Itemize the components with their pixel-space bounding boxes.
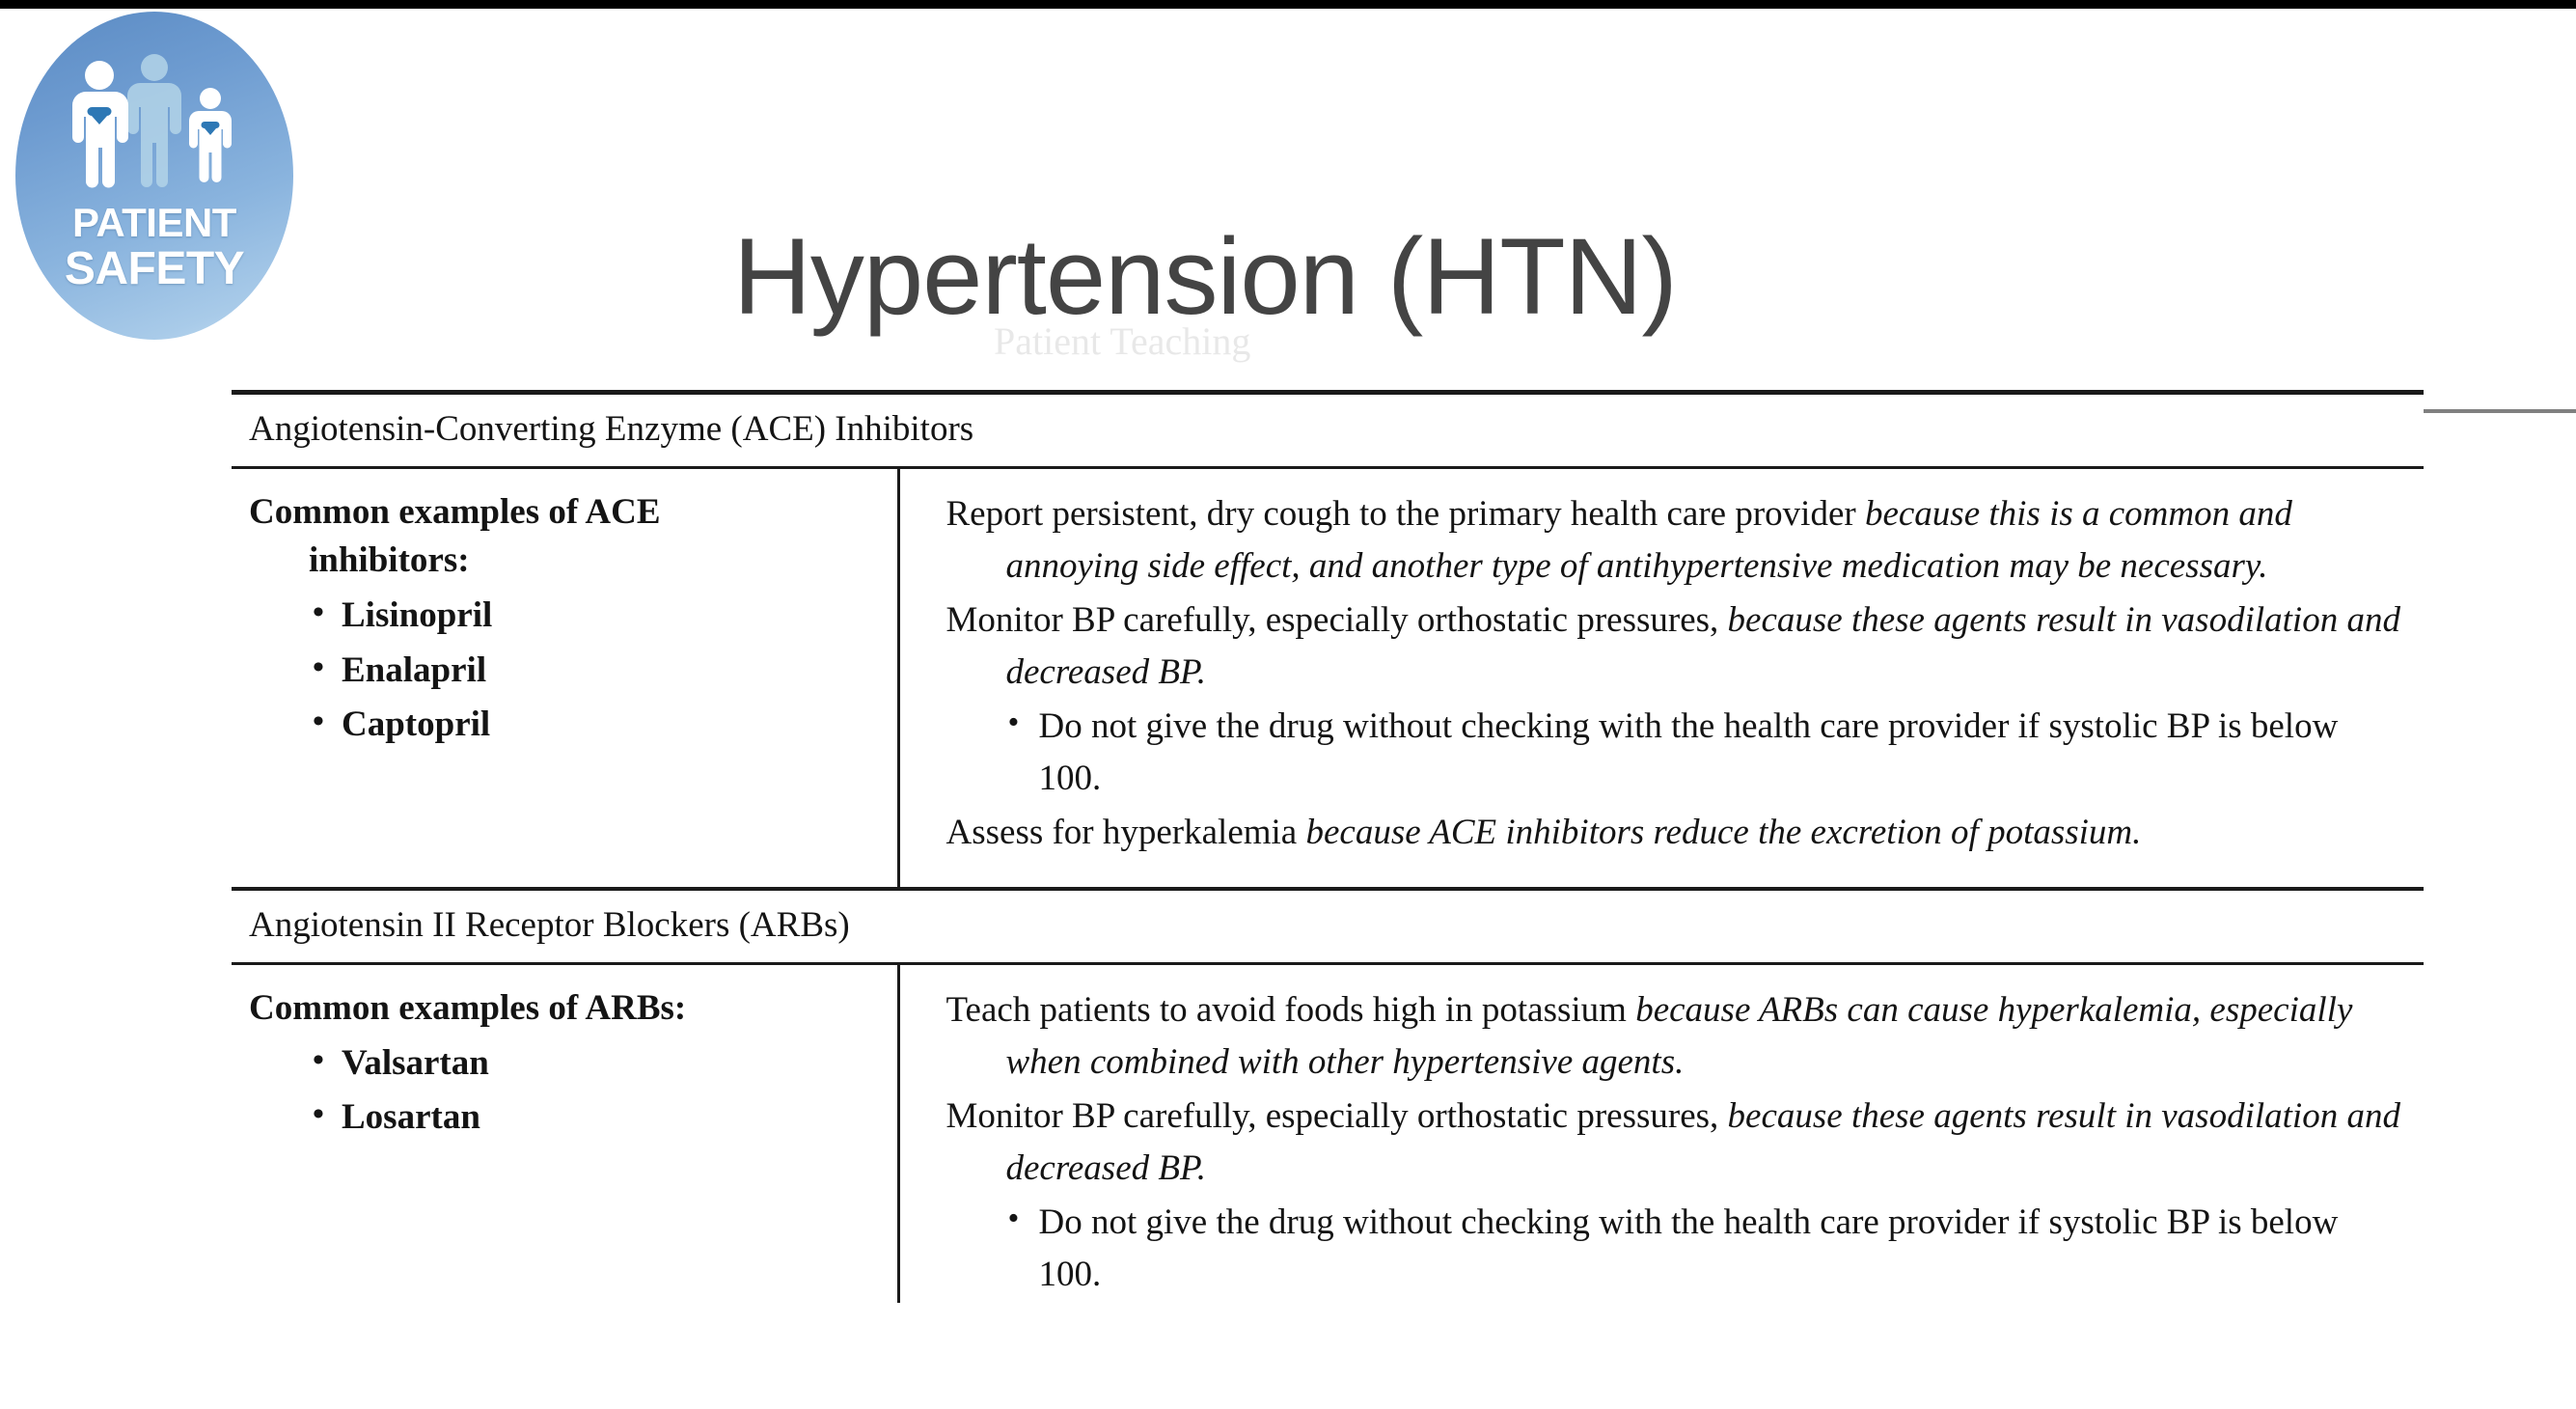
ace-closing-italic: because ACE inhibitors reduce the excret… xyxy=(1305,813,2141,852)
arb-teaching-cell: Teach patients to avoid foods high in po… xyxy=(898,963,2424,1303)
ace-p1-plain: Report persistent, dry cough to the prim… xyxy=(946,494,1865,534)
arb-lead-line1: Common examples of ARBs: xyxy=(249,988,686,1028)
badge-line-safety: SAFETY xyxy=(15,246,293,292)
list-item: Lisinopril xyxy=(309,589,882,643)
arb-p2-plain: Monitor BP carefully, especially orthost… xyxy=(946,1096,1728,1136)
arb-paragraph-1: Teach patients to avoid foods high in po… xyxy=(946,984,2401,1089)
ace-paragraph-2: Monitor BP carefully, especially orthost… xyxy=(946,594,2401,699)
table-row-arb: Common examples of ARBs: Valsartan Losar… xyxy=(232,963,2424,1303)
medication-teaching-table: Angiotensin-Converting Enzyme (ACE) Inhi… xyxy=(232,390,2424,1303)
list-item: Enalapril xyxy=(309,644,882,698)
section-header-row-ace: Angiotensin-Converting Enzyme (ACE) Inhi… xyxy=(232,393,2424,468)
ace-paragraph-1: Report persistent, dry cough to the prim… xyxy=(946,488,2401,593)
ace-examples-cell: Common examples of ACE inhibitors: Lisin… xyxy=(232,468,898,889)
arb-p1-plain: Teach patients to avoid foods high in po… xyxy=(946,990,1636,1030)
arb-lead: Common examples of ARBs: xyxy=(249,984,882,1033)
list-item: Do not give the drug without checking wi… xyxy=(1006,701,2401,805)
arb-drug-list: Valsartan Losartan xyxy=(249,1036,882,1145)
ace-lead-line1: Common examples of ACE xyxy=(249,492,661,532)
three-people-icon xyxy=(15,52,293,187)
list-item: Captopril xyxy=(309,698,882,752)
slide-title: Hypertension (HTN) xyxy=(733,220,2103,334)
ace-drug-list: Lisinopril Enalapril Captopril xyxy=(249,589,882,752)
ace-closing-paragraph: Assess for hyperkalemia because ACE inhi… xyxy=(946,807,2401,859)
slide-canvas: PATIENT SAFETY Patient Teaching Hyperten… xyxy=(0,0,2576,1409)
list-item: Do not give the drug without checking wi… xyxy=(1006,1197,2401,1301)
section-header-row-arb: Angiotensin II Receptor Blockers (ARBs) xyxy=(232,889,2424,964)
ace-teaching-cell: Report persistent, dry cough to the prim… xyxy=(898,468,2424,889)
badge-line-patient: PATIENT xyxy=(15,203,293,243)
list-item: Losartan xyxy=(309,1091,882,1145)
arb-examples-cell: Common examples of ARBs: Valsartan Losar… xyxy=(232,963,898,1303)
table-row-ace: Common examples of ACE inhibitors: Lisin… xyxy=(232,468,2424,889)
ace-lead: Common examples of ACE inhibitors: xyxy=(249,488,882,585)
section-heading-arb: Angiotensin II Receptor Blockers (ARBs) xyxy=(232,889,2424,964)
ace-lead-line2: inhibitors: xyxy=(249,537,882,585)
header-rule xyxy=(2424,409,2576,413)
section-heading-ace: Angiotensin-Converting Enzyme (ACE) Inhi… xyxy=(232,393,2424,468)
arb-paragraph-2: Monitor BP carefully, especially orthost… xyxy=(946,1091,2401,1195)
patient-safety-badge: PATIENT SAFETY xyxy=(15,12,293,340)
ace-closing-plain: Assess for hyperkalemia xyxy=(946,813,1306,852)
arb-sub-list: Do not give the drug without checking wi… xyxy=(946,1197,2401,1301)
top-black-strip xyxy=(0,0,2576,9)
list-item: Valsartan xyxy=(309,1036,882,1091)
ace-p2-plain: Monitor BP carefully, especially orthost… xyxy=(946,600,1728,640)
ace-sub-list: Do not give the drug without checking wi… xyxy=(946,701,2401,805)
